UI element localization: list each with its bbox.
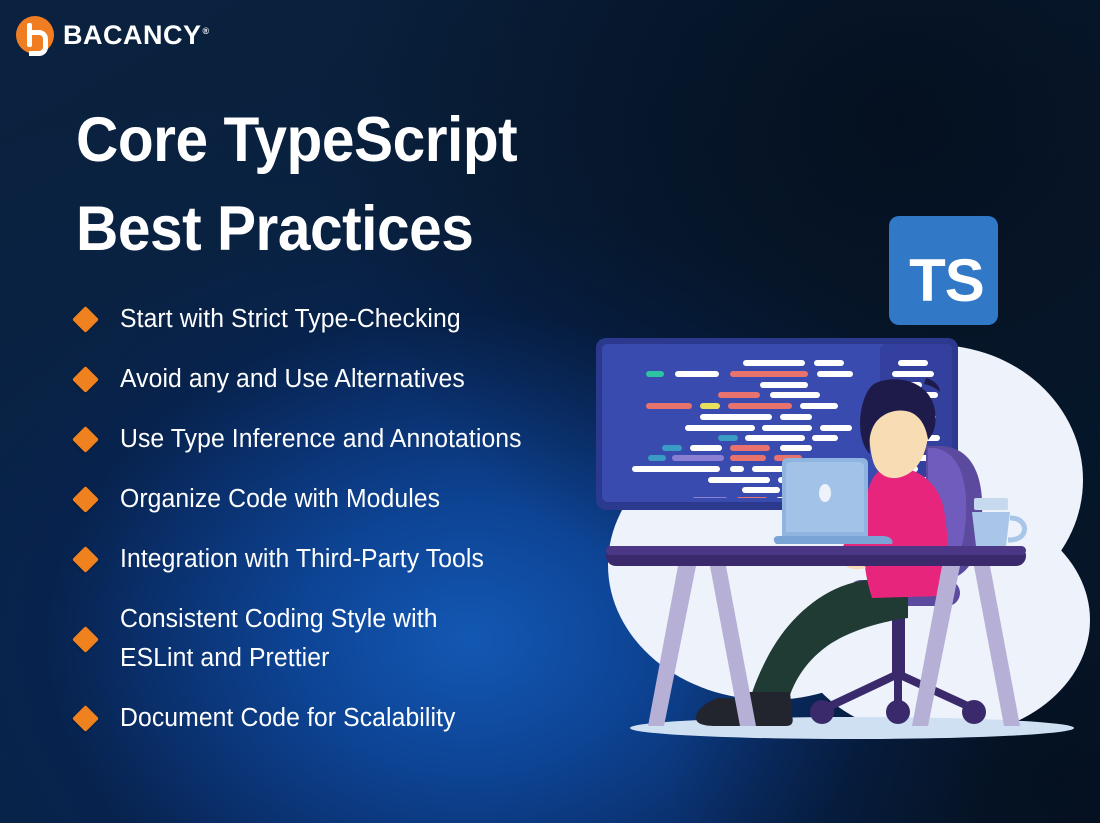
- diamond-bullet-icon: [72, 366, 99, 393]
- diamond-bullet-icon: [72, 626, 99, 653]
- diamond-bullet-icon: [72, 486, 99, 513]
- list-item: Avoid any and Use Alternatives: [76, 360, 636, 399]
- list-item: Integration with Third-Party Tools: [76, 540, 636, 579]
- page-title-line-1: Core TypeScript: [76, 96, 653, 185]
- typescript-logo-icon: TS: [889, 216, 998, 325]
- developer-at-desk-illustration: [590, 330, 1100, 750]
- list-item-label: Organize Code with Modules: [120, 480, 440, 519]
- list-item-label: Document Code for Scalability: [120, 699, 456, 738]
- diamond-bullet-icon: [72, 426, 99, 453]
- diamond-bullet-icon: [72, 546, 99, 573]
- brand-name: BACANCY®: [63, 22, 210, 49]
- page-title: Core TypeScript Best Practices: [76, 96, 653, 275]
- page-title-line-2: Best Practices: [76, 185, 653, 274]
- brand-name-text: BACANCY: [63, 20, 202, 50]
- list-item-label: Consistent Coding Style with ESLint and …: [120, 600, 438, 678]
- list-item-label: Integration with Third-Party Tools: [120, 540, 484, 579]
- list-item: Consistent Coding Style with ESLint and …: [76, 600, 636, 678]
- list-item: Organize Code with Modules: [76, 480, 636, 519]
- list-item-label: Start with Strict Type-Checking: [120, 300, 461, 339]
- list-item-label: Avoid any and Use Alternatives: [120, 360, 465, 399]
- bacancy-b-circle-icon: [16, 16, 54, 54]
- list-item-label: Use Type Inference and Annotations: [120, 420, 522, 459]
- registered-trademark-icon: ®: [203, 26, 210, 36]
- list-item: Start with Strict Type-Checking: [76, 300, 636, 339]
- diamond-bullet-icon: [72, 705, 99, 732]
- typescript-logo-label: TS: [903, 251, 984, 325]
- brand-logo: BACANCY®: [16, 16, 210, 54]
- best-practices-list: Start with Strict Type-Checking Avoid an…: [76, 300, 636, 738]
- list-item: Use Type Inference and Annotations: [76, 420, 636, 459]
- diamond-bullet-icon: [72, 306, 99, 333]
- list-item: Document Code for Scalability: [76, 699, 636, 738]
